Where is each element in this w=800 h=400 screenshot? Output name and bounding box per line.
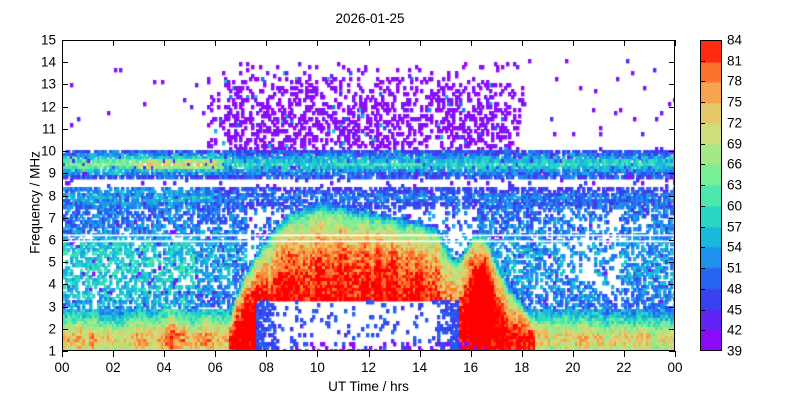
colorbar-tick-label: 84: [727, 33, 742, 48]
page-title: 2026-01-25: [0, 11, 740, 26]
colorbar-tick-label: 51: [727, 261, 742, 276]
y-tick-label: 3: [48, 300, 56, 314]
x-tick-mark: [164, 351, 165, 357]
y-tick-mark: [62, 196, 68, 197]
x-tick-mark: [369, 351, 370, 357]
y-tick-label: 4: [48, 278, 56, 292]
y-tick-mark: [62, 129, 68, 130]
colorbar-gradient: [700, 40, 722, 351]
x-tick-label: 12: [361, 360, 376, 375]
colorbar: [700, 40, 722, 351]
colorbar-tick-mark: [700, 164, 705, 165]
colorbar-tick-label: 78: [727, 74, 742, 89]
y-tick-mark-right: [669, 62, 675, 63]
x-tick-mark: [675, 351, 676, 357]
x-tick-label: 16: [463, 360, 478, 375]
x-tick-label: 22: [616, 360, 631, 375]
y-tick-mark: [62, 107, 68, 108]
x-tick-mark: [113, 351, 114, 357]
x-tick-mark: [215, 351, 216, 357]
x-tick-mark: [420, 351, 421, 357]
colorbar-tick-label: 45: [727, 302, 742, 317]
colorbar-tick-mark: [700, 289, 705, 290]
colorbar-tick-mark: [700, 81, 705, 82]
colorbar-tick-label: 66: [727, 157, 742, 172]
y-tick-label: 7: [48, 211, 56, 225]
colorbar-tick-label: 48: [727, 281, 742, 296]
x-tick-mark: [471, 351, 472, 357]
y-tick-mark-right: [669, 284, 675, 285]
y-tick-mark-right: [669, 129, 675, 130]
spectrogram-canvas: [63, 41, 675, 351]
colorbar-tick-mark: [700, 247, 705, 248]
x-tick-mark: [62, 351, 63, 357]
y-tick-mark: [62, 307, 68, 308]
y-tick-mark-right: [669, 262, 675, 263]
x-tick-mark-top: [62, 40, 63, 46]
y-tick-label: 14: [41, 55, 56, 69]
colorbar-tick-label: 54: [727, 240, 742, 255]
x-tick-label: 20: [565, 360, 580, 375]
y-tick-mark: [62, 151, 68, 152]
x-tick-mark-top: [675, 40, 676, 46]
x-tick-label: 18: [514, 360, 529, 375]
y-tick-mark-right: [669, 84, 675, 85]
x-tick-mark: [573, 351, 574, 357]
y-tick-mark: [62, 329, 68, 330]
colorbar-tick-mark: [700, 330, 705, 331]
colorbar-tick-label: 60: [727, 198, 742, 213]
y-axis-label: Frequency / MHz: [28, 83, 43, 323]
colorbar-tick-label: 72: [727, 115, 742, 130]
colorbar-tick-mark: [700, 102, 705, 103]
colorbar-tick-mark: [700, 185, 705, 186]
x-tick-mark-top: [471, 40, 472, 46]
x-tick-mark-top: [113, 40, 114, 46]
colorbar-tick-mark: [700, 123, 705, 124]
colorbar-tick-mark: [700, 227, 705, 228]
x-tick-mark: [522, 351, 523, 357]
y-tick-mark-right: [669, 151, 675, 152]
y-tick-label: 2: [48, 322, 56, 336]
colorbar-tick-label: 69: [727, 136, 742, 151]
colorbar-tick-label: 39: [727, 344, 742, 359]
x-tick-mark-top: [266, 40, 267, 46]
y-tick-mark: [62, 218, 68, 219]
colorbar-tick-mark: [700, 61, 705, 62]
y-tick-mark: [62, 62, 68, 63]
y-tick-mark-right: [669, 107, 675, 108]
colorbar-tick-label: 75: [727, 95, 742, 110]
colorbar-tick-label: 42: [727, 323, 742, 338]
x-tick-mark-top: [317, 40, 318, 46]
plot-area: [62, 40, 675, 351]
x-tick-label: 04: [157, 360, 172, 375]
y-tick-label: 15: [41, 33, 56, 47]
x-tick-label: 00: [54, 360, 69, 375]
y-tick-label: 12: [41, 100, 56, 114]
colorbar-tick-label: 81: [727, 53, 742, 68]
y-tick-mark-right: [669, 329, 675, 330]
y-tick-label: 13: [41, 78, 56, 92]
y-tick-mark: [62, 84, 68, 85]
colorbar-tick-mark: [700, 144, 705, 145]
y-tick-label: 11: [42, 122, 56, 136]
colorbar-tick-label: 57: [727, 219, 742, 234]
y-tick-mark-right: [669, 307, 675, 308]
y-tick-label: 6: [48, 233, 56, 247]
colorbar-tick-mark: [700, 268, 705, 269]
y-tick-label: 1: [48, 344, 56, 358]
y-tick-mark-right: [669, 218, 675, 219]
y-tick-label: 5: [48, 255, 56, 269]
x-tick-mark-top: [369, 40, 370, 46]
x-tick-mark-top: [420, 40, 421, 46]
y-tick-mark-right: [669, 196, 675, 197]
x-tick-mark-top: [522, 40, 523, 46]
y-tick-mark: [62, 173, 68, 174]
colorbar-tick-mark: [700, 206, 705, 207]
x-tick-mark: [317, 351, 318, 357]
x-tick-label: 14: [412, 360, 427, 375]
ionogram-figure: 2026-01-25 123456789101112131415 0002040…: [0, 0, 800, 400]
colorbar-tick-label: 63: [727, 178, 742, 193]
x-axis-label: UT Time / hrs: [62, 379, 675, 394]
x-tick-label: 08: [259, 360, 274, 375]
y-tick-label: 10: [41, 144, 56, 158]
y-tick-label: 8: [48, 189, 56, 203]
y-tick-label: 9: [48, 167, 56, 181]
x-tick-mark-top: [573, 40, 574, 46]
x-tick-label: 00: [667, 360, 682, 375]
colorbar-tick-mark: [700, 310, 705, 311]
y-tick-mark: [62, 262, 68, 263]
y-tick-mark-right: [669, 240, 675, 241]
x-tick-label: 06: [208, 360, 223, 375]
x-tick-mark-top: [164, 40, 165, 46]
x-tick-mark-top: [624, 40, 625, 46]
x-tick-label: 10: [310, 360, 325, 375]
x-tick-mark: [624, 351, 625, 357]
x-tick-label: 02: [106, 360, 121, 375]
y-tick-mark: [62, 284, 68, 285]
y-tick-mark-right: [669, 173, 675, 174]
y-tick-mark: [62, 240, 68, 241]
x-tick-mark: [266, 351, 267, 357]
x-tick-mark-top: [215, 40, 216, 46]
